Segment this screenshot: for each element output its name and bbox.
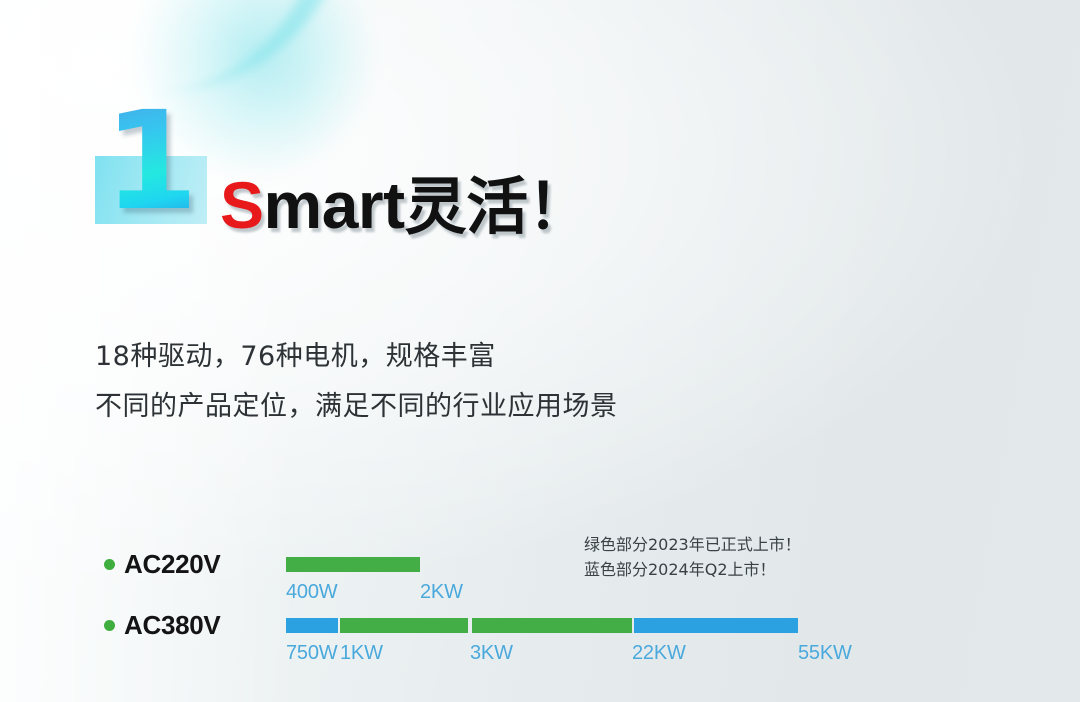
tick-labels-ac380v: 750W1KW3KW22KW55KW (0, 642, 1080, 668)
legend-item-ac220v: AC220V (104, 548, 220, 580)
body-copy-line-2: 不同的产品定位，满足不同的行业应用场景 (95, 382, 618, 432)
body-copy: 18种驱动，76种电机，规格丰富 不同的产品定位，满足不同的行业应用场景 (95, 332, 618, 432)
tick-label: 55KW (798, 642, 852, 665)
bar-track-ac220v (286, 557, 420, 572)
bar-segment-blue (634, 618, 798, 633)
slide-canvas: 1 Smart灵活！ 18种驱动，76种电机，规格丰富 不同的产品定位，满足不同… (0, 0, 1080, 702)
bar-track-ac380v (286, 618, 798, 633)
tick-label: 22KW (632, 642, 686, 665)
body-copy-line-1: 18种驱动，76种电机，规格丰富 (95, 332, 618, 382)
legend-bullet-icon (104, 620, 115, 631)
tick-label: 2KW (420, 581, 463, 604)
title-accent-letter: S (220, 168, 264, 242)
legend-item-ac380v: AC380V (104, 609, 220, 641)
legend-bullet-icon (104, 559, 115, 570)
tick-label: 1KW (340, 642, 383, 665)
chart-note-line-2: 蓝色部分2024年Q2上市！ (584, 557, 801, 582)
tick-label: 400W (286, 581, 337, 604)
bar-segment-green (286, 557, 420, 572)
tick-labels-ac220v: 400W2KW (0, 581, 1080, 607)
headline-block: 1 Smart灵活！ (86, 92, 846, 282)
chart-note: 绿色部分2023年已正式上市！ 蓝色部分2024年Q2上市！ (584, 532, 801, 582)
tick-label: 3KW (470, 642, 513, 665)
title-cjk-text: 灵活！ (405, 170, 590, 243)
bar-segment-green (472, 618, 632, 633)
bar-segment-green (340, 618, 468, 633)
tick-label: 750W (286, 642, 337, 665)
legend-label-ac220v: AC220V (124, 549, 220, 580)
power-range-chart: 绿色部分2023年已正式上市！ 蓝色部分2024年Q2上市！ AC220V 40… (0, 520, 1080, 690)
page-title: Smart灵活！ (220, 172, 589, 238)
chart-note-line-1: 绿色部分2023年已正式上市！ (584, 532, 801, 557)
legend-label-ac380v: AC380V (124, 610, 220, 641)
title-latin-text: mart (264, 168, 405, 242)
section-number: 1 (96, 92, 206, 237)
bar-segment-blue (286, 618, 338, 633)
